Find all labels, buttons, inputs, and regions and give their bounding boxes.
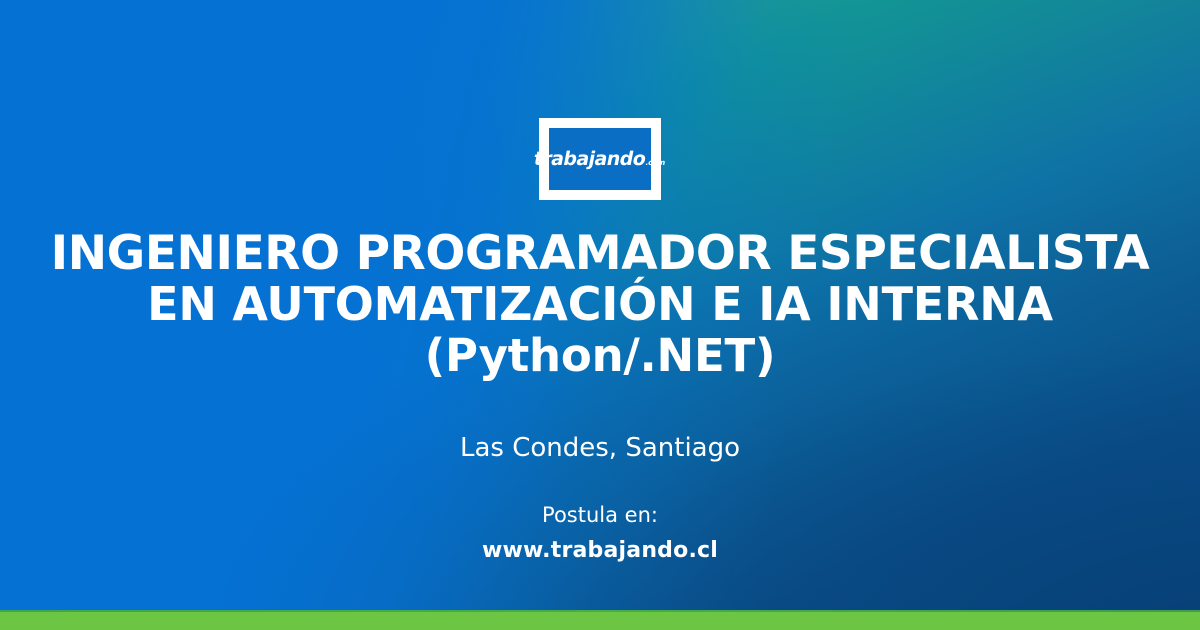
job-title-line-3: (Python/.NET) (0, 330, 1200, 381)
logo-word-text: trabajando (532, 150, 647, 169)
logo-wordmark: trabajando .com (532, 150, 667, 169)
job-title: INGENIERO PROGRAMADOR ESPECIALISTA EN AU… (0, 228, 1200, 381)
job-title-line-1: INGENIERO PROGRAMADOR ESPECIALISTA (0, 228, 1200, 279)
bottom-accent-bar-edge (0, 610, 1200, 612)
logo-tld-text: .com (645, 159, 666, 167)
bottom-accent-bar (0, 610, 1200, 630)
apply-url[interactable]: www.trabajando.cl (0, 536, 1200, 566)
card-content: trabajando .com INGENIERO PROGRAMADOR ES… (0, 0, 1200, 630)
job-title-line-2: EN AUTOMATIZACIÓN E IA INTERNA (0, 279, 1200, 330)
apply-block: Postula en: www.trabajando.cl (0, 502, 1200, 566)
job-posting-card: trabajando .com INGENIERO PROGRAMADOR ES… (0, 0, 1200, 630)
logo-panel: trabajando .com (549, 128, 651, 190)
apply-label: Postula en: (0, 502, 1200, 529)
trabajando-logo: trabajando .com (539, 118, 661, 200)
job-location: Las Condes, Santiago (0, 432, 1200, 464)
